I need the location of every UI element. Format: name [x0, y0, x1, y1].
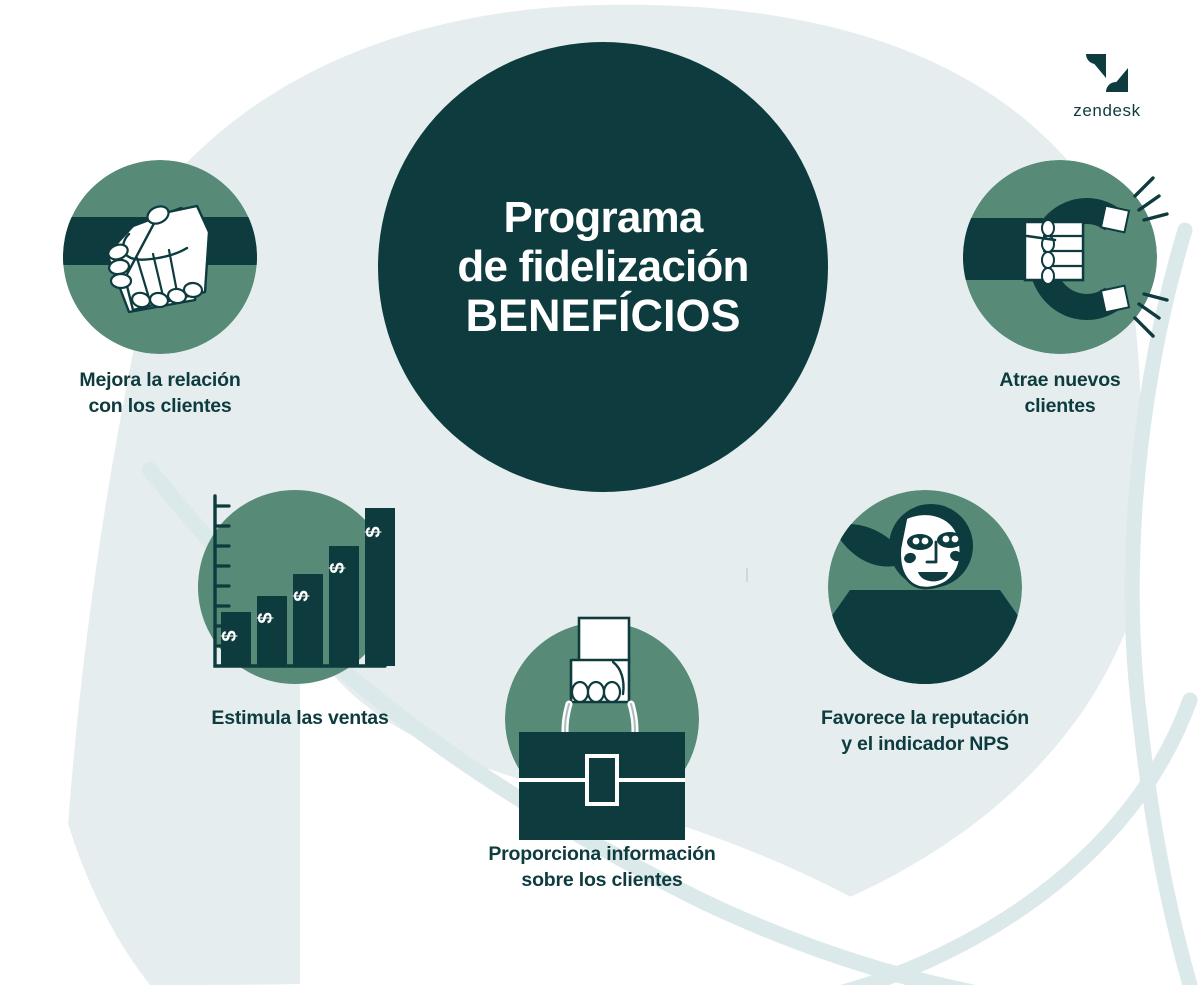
brand-logo: zendesk	[1052, 52, 1162, 121]
benefit-label-information: Proporciona información sobre los client…	[452, 842, 752, 894]
svg-text:$: $	[255, 612, 277, 623]
bar-chart-icon: $ $ $ $ $	[185, 490, 415, 684]
benefit-relationship: Mejora la relación con los clientes	[24, 160, 296, 420]
hub-title-line1: Programa	[457, 193, 748, 242]
magnet-hand-icon	[963, 160, 1157, 354]
benefit-label-new-customers: Atrae nuevos clientes	[930, 368, 1190, 420]
benefit-information: Proporciona información sobre los client…	[452, 622, 752, 894]
hub-title-line2: de fidelización	[457, 242, 748, 291]
brand-wordmark: zendesk	[1052, 101, 1162, 121]
background-tick	[746, 568, 748, 582]
benefit-reputation: Favorece la reputación y el indicador NP…	[780, 490, 1070, 758]
svg-text:$: $	[327, 562, 349, 573]
svg-text:$: $	[219, 630, 241, 641]
benefit-label-reputation: Favorece la reputación y el indicador NP…	[780, 706, 1070, 758]
svg-text:$: $	[363, 526, 385, 537]
briefcase-hand-icon	[505, 622, 699, 816]
infographic-canvas: zendesk Programa de fidelización BENEFÍC…	[0, 0, 1200, 985]
hub-title-line3: BENEFÍCIOS	[457, 291, 748, 341]
zendesk-z-icon	[1084, 52, 1130, 94]
benefit-new-customers: Atrae nuevos clientes	[930, 160, 1190, 420]
benefit-label-sales: Estimula las ventas	[155, 706, 445, 732]
hub-title: Programa de fidelización BENEFÍCIOS	[457, 193, 748, 342]
benefit-label-relationship: Mejora la relación con los clientes	[24, 368, 296, 420]
svg-text:$: $	[291, 590, 313, 601]
smiling-person-icon	[828, 490, 1022, 684]
handshake-icon	[63, 160, 257, 354]
hub-circle: Programa de fidelización BENEFÍCIOS	[378, 42, 828, 492]
benefit-sales: $ $ $ $ $ Estimula las ventas	[155, 490, 445, 732]
